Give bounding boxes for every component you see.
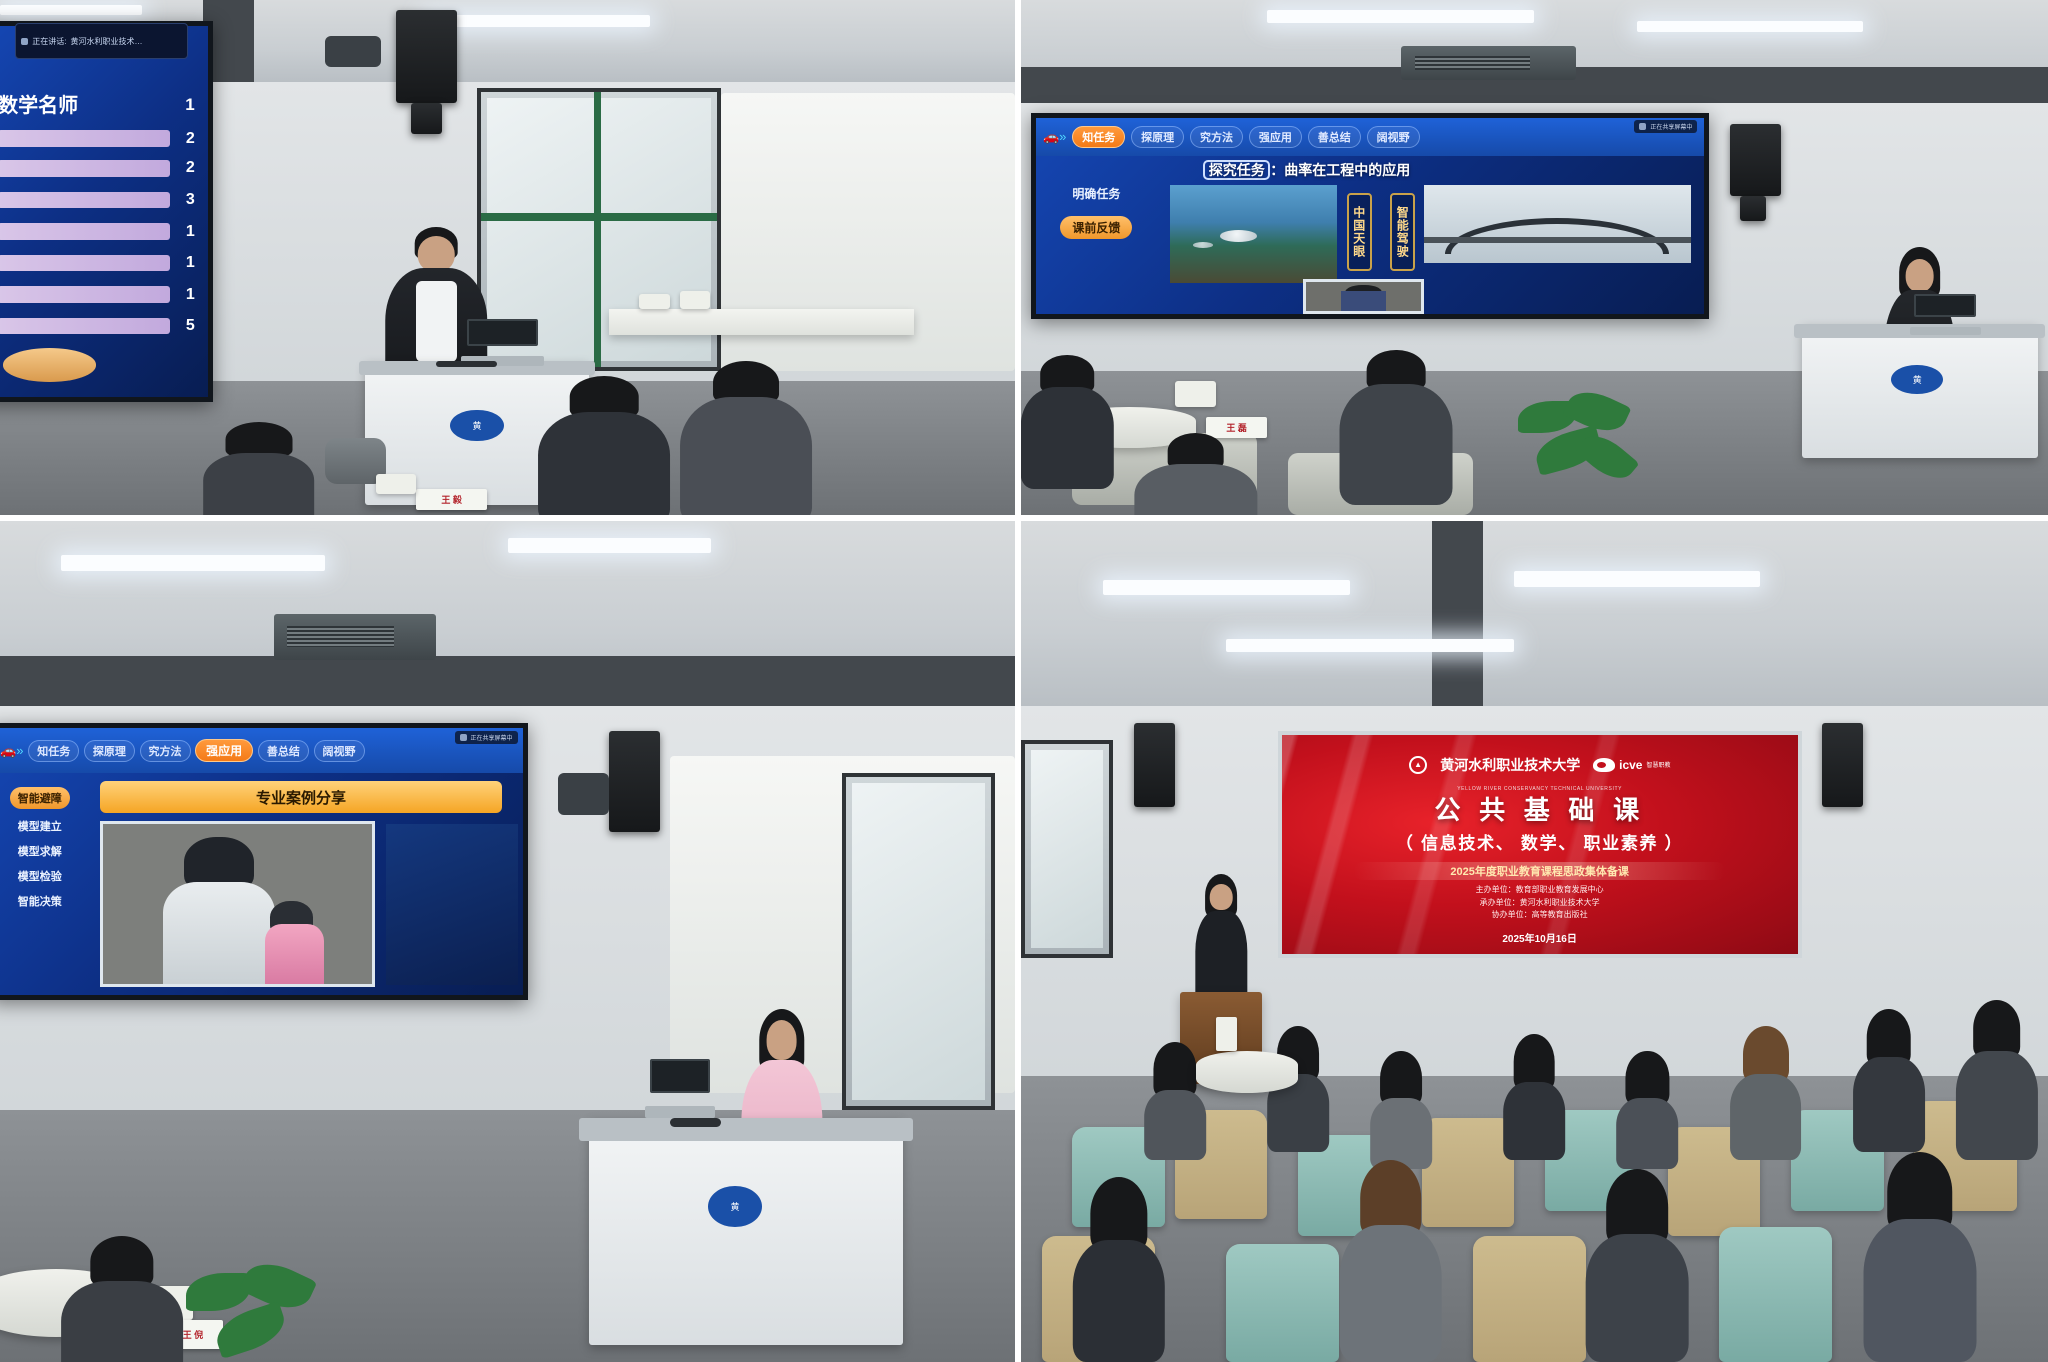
- share-icon: [21, 38, 28, 45]
- wall-speaker: [1740, 196, 1766, 222]
- rank-value: 1: [185, 95, 194, 115]
- tab-5[interactable]: 阔视野: [314, 740, 365, 762]
- screen-share-badge: 正在共享屏幕中: [455, 731, 518, 744]
- tab-0[interactable]: 知任务: [28, 740, 79, 762]
- attendee: [1617, 1051, 1679, 1169]
- classroom-led-screen: 数学名师 1 2 2 3 1 1 1 5: [0, 21, 213, 402]
- wall-speaker: [396, 10, 457, 103]
- sidebar-item-2[interactable]: 模型求解: [18, 843, 62, 859]
- university-emblem: 黄: [450, 410, 504, 442]
- share-icon: [460, 734, 467, 741]
- organizer-0: 主办单位：教育部职业教育发展中心: [1282, 884, 1798, 896]
- audience-member: [1021, 355, 1113, 489]
- car-icon: 🚗»: [1043, 129, 1066, 145]
- video-window: [100, 821, 375, 987]
- screen-share-chip: 正在讲话: 黄河水利职业技术…: [15, 23, 188, 59]
- panel-bottom-right: ▲ 黄河水利职业技术大学 icve 智慧职教 YELLOW RIVER CONS…: [1021, 521, 2048, 1362]
- title-text: ：曲率在工程中的应用: [1270, 162, 1410, 178]
- attendee: [1370, 1051, 1432, 1169]
- rank-value: 2: [186, 130, 195, 148]
- side-table: [1196, 1051, 1299, 1093]
- share-badge-text: 正在共享屏幕中: [1650, 122, 1692, 131]
- screen-tab-bar[interactable]: 🚗» 知任务 探原理 究方法 强应用 善总结 阔视野: [1036, 118, 1704, 155]
- air-conditioner: [274, 614, 436, 660]
- attendee: [1586, 1169, 1689, 1362]
- attendee: [1730, 1026, 1802, 1161]
- audience-member: [538, 376, 670, 521]
- led-header: ▲ 黄河水利职业技术大学 icve 智慧职教: [1282, 751, 1798, 779]
- tab-2[interactable]: 究方法: [1190, 126, 1243, 148]
- photo-collage: 数学名师 1 2 2 3 1 1 1 5: [0, 0, 2048, 1362]
- speaker-bracket: [411, 103, 441, 134]
- rank-value: 1: [186, 286, 195, 304]
- sidebar-item-0[interactable]: 智能避障: [10, 787, 70, 809]
- wall-speaker: [1822, 723, 1863, 807]
- content-banner: 专业案例分享: [100, 781, 501, 813]
- microphone: [436, 361, 497, 367]
- tab-5[interactable]: 阔视野: [1367, 126, 1420, 148]
- laptop: [1914, 294, 1976, 335]
- seat: [1719, 1227, 1832, 1362]
- tab-3[interactable]: 强应用: [1249, 126, 1302, 148]
- sidebar-item-1[interactable]: 课前反馈: [1060, 216, 1132, 239]
- title-tag: 探究任务: [1203, 160, 1270, 180]
- icve-sub: 智慧职教: [1646, 760, 1670, 769]
- share-org: 黄河水利职业技术…: [70, 36, 142, 47]
- seat: [1226, 1244, 1339, 1362]
- tab-3[interactable]: 强应用: [195, 739, 253, 762]
- event-led-banner: ▲ 黄河水利职业技术大学 icve 智慧职教 YELLOW RIVER CONS…: [1278, 731, 1802, 958]
- lesson-led-screen: 🚗» 知任务 探原理 究方法 强应用 善总结 阔视野 正在共享屏幕中 智能避障 …: [0, 723, 528, 1001]
- screen-sidebar[interactable]: 明确任务 课前反馈: [1036, 185, 1156, 239]
- share-status: 正在讲话:: [32, 36, 66, 47]
- lesson-led-screen: 🚗» 知任务 探原理 究方法 强应用 善总结 阔视野 正在共享屏幕中 探究任务：…: [1031, 113, 1709, 319]
- attendee: [1144, 1042, 1206, 1160]
- tab-2[interactable]: 究方法: [140, 740, 191, 762]
- wall-speaker: [1730, 124, 1781, 196]
- attendee: [1339, 1160, 1442, 1362]
- event-organizers: 主办单位：教育部职业教育发展中心 承办单位：黄河水利职业技术大学 协办单位：高等…: [1282, 884, 1798, 921]
- media-label-0: 中国天眼: [1347, 193, 1372, 271]
- share-badge-text: 正在共享屏幕中: [471, 733, 513, 742]
- screen-sidebar[interactable]: 智能避障 模型建立 模型求解 模型检验 智能决策: [0, 787, 85, 909]
- sidebar-item-3[interactable]: 模型检验: [18, 868, 62, 884]
- audience-member: [1339, 350, 1452, 505]
- attendee: [1504, 1034, 1566, 1160]
- attendee: [1863, 1152, 1976, 1362]
- classroom-door: [842, 773, 994, 1109]
- screen-share-badge: 正在共享屏幕中: [1634, 120, 1697, 133]
- sidebar-item-1[interactable]: 模型建立: [18, 818, 62, 834]
- panel-top-right: 🚗» 知任务 探原理 究方法 强应用 善总结 阔视野 正在共享屏幕中 探究任务：…: [1021, 0, 2048, 521]
- rank-value: 2: [186, 159, 195, 177]
- panel-bottom-left: 🚗» 知任务 探原理 究方法 强应用 善总结 阔视野 正在共享屏幕中 智能避障 …: [0, 521, 1021, 1362]
- potted-plant: [1504, 391, 1648, 515]
- video-window: [1303, 279, 1423, 314]
- event-name: 2025年度职业教育课程思政集体备课: [1354, 862, 1725, 880]
- hall-door: [1021, 740, 1113, 959]
- tab-1[interactable]: 探原理: [84, 740, 135, 762]
- audience-member: [203, 422, 315, 521]
- lectern: 黄: [589, 1118, 904, 1345]
- organizer-2: 协办单位：高等教育出版社: [1282, 909, 1798, 921]
- organizer-1: 承办单位：黄河水利职业技术大学: [1282, 897, 1798, 909]
- sidebar-item-0[interactable]: 明确任务: [1072, 185, 1120, 202]
- icve-mark-icon: [1593, 758, 1615, 772]
- audience-member: [680, 361, 812, 522]
- potted-plant: [173, 1261, 335, 1362]
- wall-speaker: [1134, 723, 1175, 807]
- microphone: [670, 1118, 721, 1126]
- university-emblem: 黄: [708, 1186, 761, 1227]
- sidebar-item-4[interactable]: 智能决策: [18, 893, 62, 909]
- media-photo-fast: [1170, 185, 1337, 283]
- rank-value: 1: [186, 254, 195, 272]
- attendee: [1853, 1009, 1925, 1152]
- laptop: [650, 1059, 711, 1118]
- ceiling-camera: [558, 773, 609, 815]
- tissue-box: [1175, 381, 1216, 407]
- wall-speaker: [609, 731, 660, 832]
- icve-logo: icve 智慧职教: [1593, 758, 1670, 772]
- event-subtitle: （ 信息技术、 数学、 职业素养 ）: [1282, 829, 1798, 854]
- attendee: [1072, 1177, 1164, 1362]
- university-name-cn: 黄河水利职业技术大学: [1440, 755, 1580, 775]
- lectern: 黄: [1802, 324, 2038, 458]
- car-icon: 🚗»: [0, 743, 23, 759]
- icve-text: icve: [1619, 758, 1642, 772]
- tab-1[interactable]: 探原理: [1131, 126, 1184, 148]
- event-title: 公 共 基 础 课: [1282, 790, 1798, 827]
- rank-value: 3: [186, 191, 195, 209]
- tab-4[interactable]: 善总结: [258, 740, 309, 762]
- rank-value: 1: [186, 223, 195, 241]
- name-plate: 王 毅: [416, 489, 487, 510]
- screen-tab-bar[interactable]: 🚗» 知任务 探原理 究方法 强应用 善总结 阔视野: [0, 728, 523, 773]
- audience-member: [61, 1236, 183, 1362]
- laptop: [467, 319, 538, 365]
- tab-4[interactable]: 善总结: [1308, 126, 1361, 148]
- university-logo-icon: ▲: [1409, 756, 1428, 775]
- ceiling-camera: [325, 36, 381, 67]
- tab-0[interactable]: 知任务: [1072, 126, 1125, 148]
- university-emblem: 黄: [1891, 365, 1943, 394]
- screen-title: 探究任务：曲率在工程中的应用: [1203, 160, 1410, 180]
- rank-value: 5: [186, 317, 195, 335]
- media-photo-bridge: [1424, 185, 1691, 263]
- audience-member: [1134, 433, 1257, 521]
- media-label-1: 智能驾驶: [1390, 193, 1415, 271]
- share-icon: [1639, 123, 1646, 130]
- attendee: [1956, 1000, 2038, 1160]
- event-date: 2025年10月16日: [1282, 930, 1798, 945]
- seat: [1473, 1236, 1586, 1362]
- water-bottle: [1216, 1017, 1237, 1051]
- panel-top-left: 数学名师 1 2 2 3 1 1 1 5: [0, 0, 1021, 521]
- side-desk: [609, 309, 914, 335]
- air-conditioner: [1401, 46, 1576, 79]
